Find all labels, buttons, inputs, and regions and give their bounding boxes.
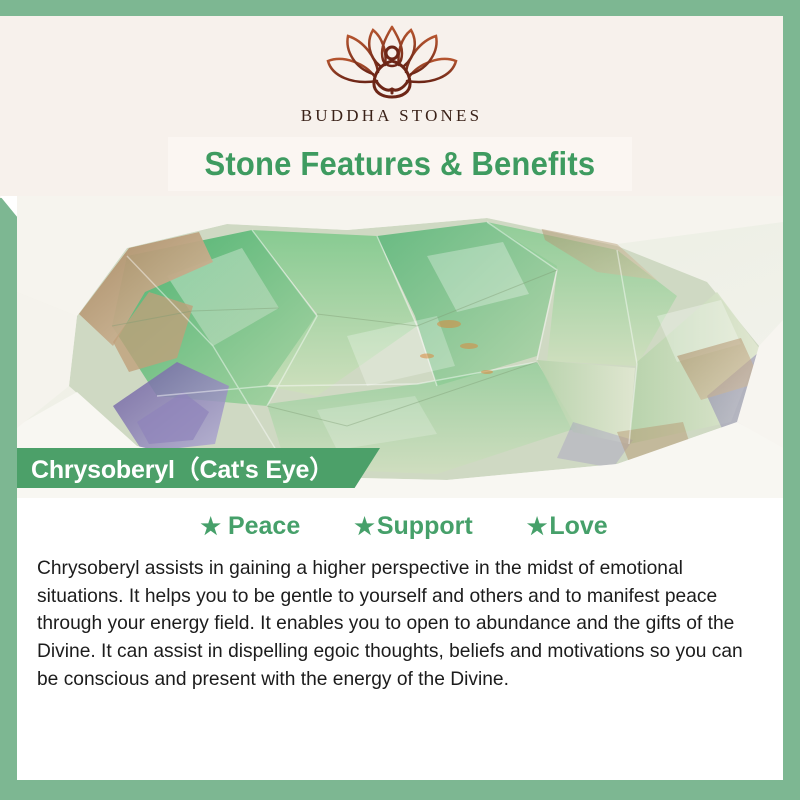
stone-description: Chrysoberyl assists in gaining a higher … [37,555,752,693]
frame-top-bar [0,0,800,16]
star-icon: ★ [354,515,375,538]
benefit-support: ★ Support [354,512,472,541]
stone-name: Chrysoberyl（Cat's Eye） [31,450,334,486]
benefits-row: ★ Peace ★ Support ★ Love [17,512,783,541]
brand-name: BUDDHA STONES [301,106,483,126]
lotus-meditation-icon [317,22,467,104]
benefit-peace: ★ Peace [200,512,300,541]
frame-left-bar [0,198,17,800]
benefit-label: Support [377,512,473,541]
frame-right-bar [783,0,800,800]
star-icon: ★ [527,515,548,538]
title-banner: Stone Features & Benefits [168,137,632,191]
benefit-label: Love [549,512,607,541]
benefit-label: Peace [228,512,300,541]
content-panel: ★ Peace ★ Support ★ Love Chrysoberyl ass… [17,500,783,780]
stone-name-band: Chrysoberyl（Cat's Eye） [17,448,380,488]
frame-bottom-bar [0,780,800,800]
page-title: Stone Features & Benefits [205,145,596,183]
benefit-love: ★ Love [527,512,608,541]
poster: BUDDHA STONES [0,0,800,800]
star-icon: ★ [200,515,221,538]
brand-header: BUDDHA STONES [0,16,783,148]
